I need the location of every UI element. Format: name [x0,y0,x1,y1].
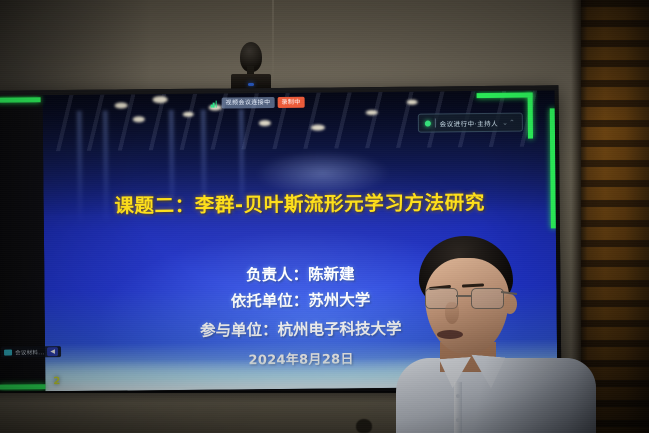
microphone-object [356,419,372,433]
share-marker-top-left [0,97,41,102]
divider [435,118,436,127]
lens-right [471,288,504,309]
camera-led-indicator [248,83,254,86]
slide-page-number: 2 [53,376,60,387]
presenter-shading [396,358,596,433]
meeting-info-pill[interactable]: 会议进行中·主持人 ⌄⌃ [417,113,522,133]
share-marker-bottom-left [0,384,45,389]
share-marker-top-right-vertical [528,93,533,139]
slide-title: 课题二：李群-贝叶斯流形元学习方法研究 [43,185,555,219]
conference-status-bar[interactable]: 视频会议连接中 录制中 [211,97,305,109]
presenter-nose [445,302,459,324]
share-marker-top-right-horizontal [477,93,533,99]
taskbar-label: 会议材料... [15,348,44,356]
signal-bars-icon [211,99,219,107]
app-icon [4,349,12,355]
meeting-info-label: 会议进行中·主持人 [440,117,499,128]
status-dot-icon [425,120,431,126]
recording-badge[interactable]: 录制中 [277,97,304,108]
more-options-icon[interactable]: ⌄⌃ [502,118,516,126]
taskbar-pill[interactable]: 会议材料... ◀ [1,346,61,358]
speaker-icon[interactable]: ◀ [47,347,58,356]
presenter [396,236,596,433]
presenter-mouth [437,330,463,339]
ceiling-lamp [407,100,418,105]
conference-room-photo: 课题二：李群-贝叶斯流形元学习方法研究 负责人：陈新建 依托单位：苏州大学 参与… [0,0,649,433]
eyeglasses-icon [423,288,511,308]
glasses-bridge [456,295,471,297]
conference-status-label: 视频会议连接中 [222,97,275,109]
ptz-camera [231,42,271,92]
